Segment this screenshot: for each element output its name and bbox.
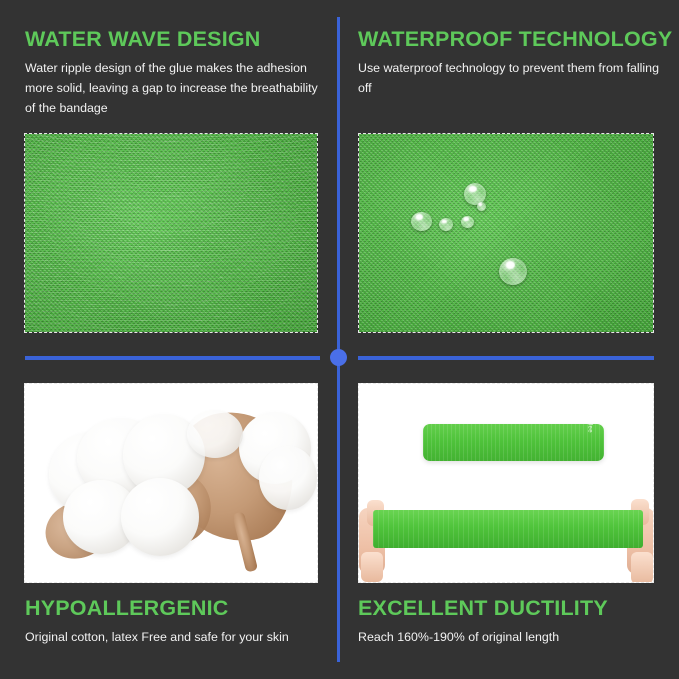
horizontal-divider-left bbox=[25, 356, 320, 360]
bandage-unstretched: Colee bbox=[423, 424, 604, 461]
water-droplet bbox=[439, 218, 453, 231]
bandage-ribs bbox=[373, 510, 643, 548]
image-bandage-ductility: Colee bbox=[358, 383, 654, 583]
panel-title: WATER WAVE DESIGN bbox=[25, 28, 325, 52]
panel-description: Use waterproof technology to prevent the… bbox=[358, 58, 666, 98]
water-droplet bbox=[411, 212, 432, 231]
fabric-shading bbox=[359, 134, 653, 332]
cotton-boll bbox=[121, 478, 199, 556]
panel-description: Water ripple design of the glue makes th… bbox=[25, 58, 325, 118]
cotton-boll bbox=[187, 410, 243, 458]
water-droplet bbox=[461, 216, 474, 228]
panel-title: EXCELLENT DUCTILITY bbox=[358, 597, 663, 621]
cotton-boll bbox=[259, 446, 317, 510]
image-green-wave-fabric bbox=[24, 133, 318, 333]
horizontal-divider-right bbox=[358, 356, 654, 360]
center-dot bbox=[330, 349, 347, 366]
water-droplet bbox=[499, 258, 527, 285]
bandage-stretched bbox=[373, 510, 643, 548]
panel-title: WATERPROOF TECHNOLOGY bbox=[358, 28, 666, 52]
panel-water-wave-design: WATER WAVE DESIGN Water ripple design of… bbox=[25, 28, 325, 118]
finger bbox=[631, 552, 653, 583]
panel-description: Reach 160%-190% of original length bbox=[358, 627, 663, 647]
panel-excellent-ductility: EXCELLENT DUCTILITY Reach 160%-190% of o… bbox=[358, 597, 663, 647]
infographic-page: WATER WAVE DESIGN Water ripple design of… bbox=[0, 0, 679, 679]
water-droplet bbox=[477, 202, 486, 211]
panel-title: HYPOALLERGENIC bbox=[25, 597, 325, 621]
panel-description: Original cotton, latex Free and safe for… bbox=[25, 627, 325, 647]
image-waterproof-fabric bbox=[358, 133, 654, 333]
panel-waterproof-technology: WATERPROOF TECHNOLOGY Use waterproof tec… bbox=[358, 28, 666, 98]
image-cotton-bolls bbox=[24, 383, 318, 583]
panel-hypoallergenic: HYPOALLERGENIC Original cotton, latex Fr… bbox=[25, 597, 325, 647]
bandage-ribs bbox=[423, 424, 604, 461]
finger bbox=[361, 552, 383, 582]
bandage-logo-text: Colee bbox=[587, 415, 593, 433]
fabric-shading bbox=[25, 134, 317, 332]
vertical-divider bbox=[337, 17, 340, 662]
